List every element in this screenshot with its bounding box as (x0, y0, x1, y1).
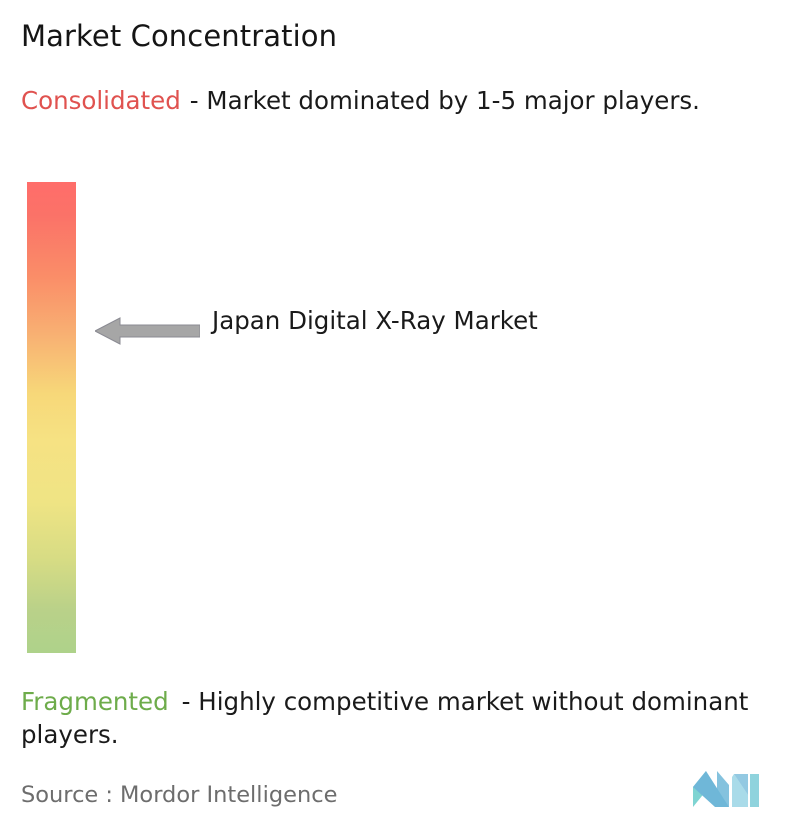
legend-consolidated: Consolidated- Market dominated by 1-5 ma… (21, 84, 766, 117)
legend-fragmented-keyword: Fragmented (21, 687, 169, 716)
page-title: Market Concentration (21, 19, 337, 53)
source-label: Source : (21, 782, 113, 808)
mordor-logo-glyph (693, 771, 759, 807)
source-attribution: Source :Mordor Intelligence (21, 780, 337, 810)
source-value: Mordor Intelligence (120, 782, 337, 808)
legend-consolidated-keyword: Consolidated (21, 86, 181, 115)
concentration-scale-bar (27, 182, 76, 653)
legend-fragmented: Fragmented- Highly competitive market wi… (21, 685, 783, 751)
arrow-left-glyph (95, 314, 200, 348)
callout-label: Japan Digital X-Ray Market (212, 303, 572, 338)
mordor-intelligence-logo (693, 771, 759, 807)
arrow-left-icon (95, 314, 200, 348)
legend-consolidated-description: - Market dominated by 1-5 major players. (190, 86, 700, 115)
